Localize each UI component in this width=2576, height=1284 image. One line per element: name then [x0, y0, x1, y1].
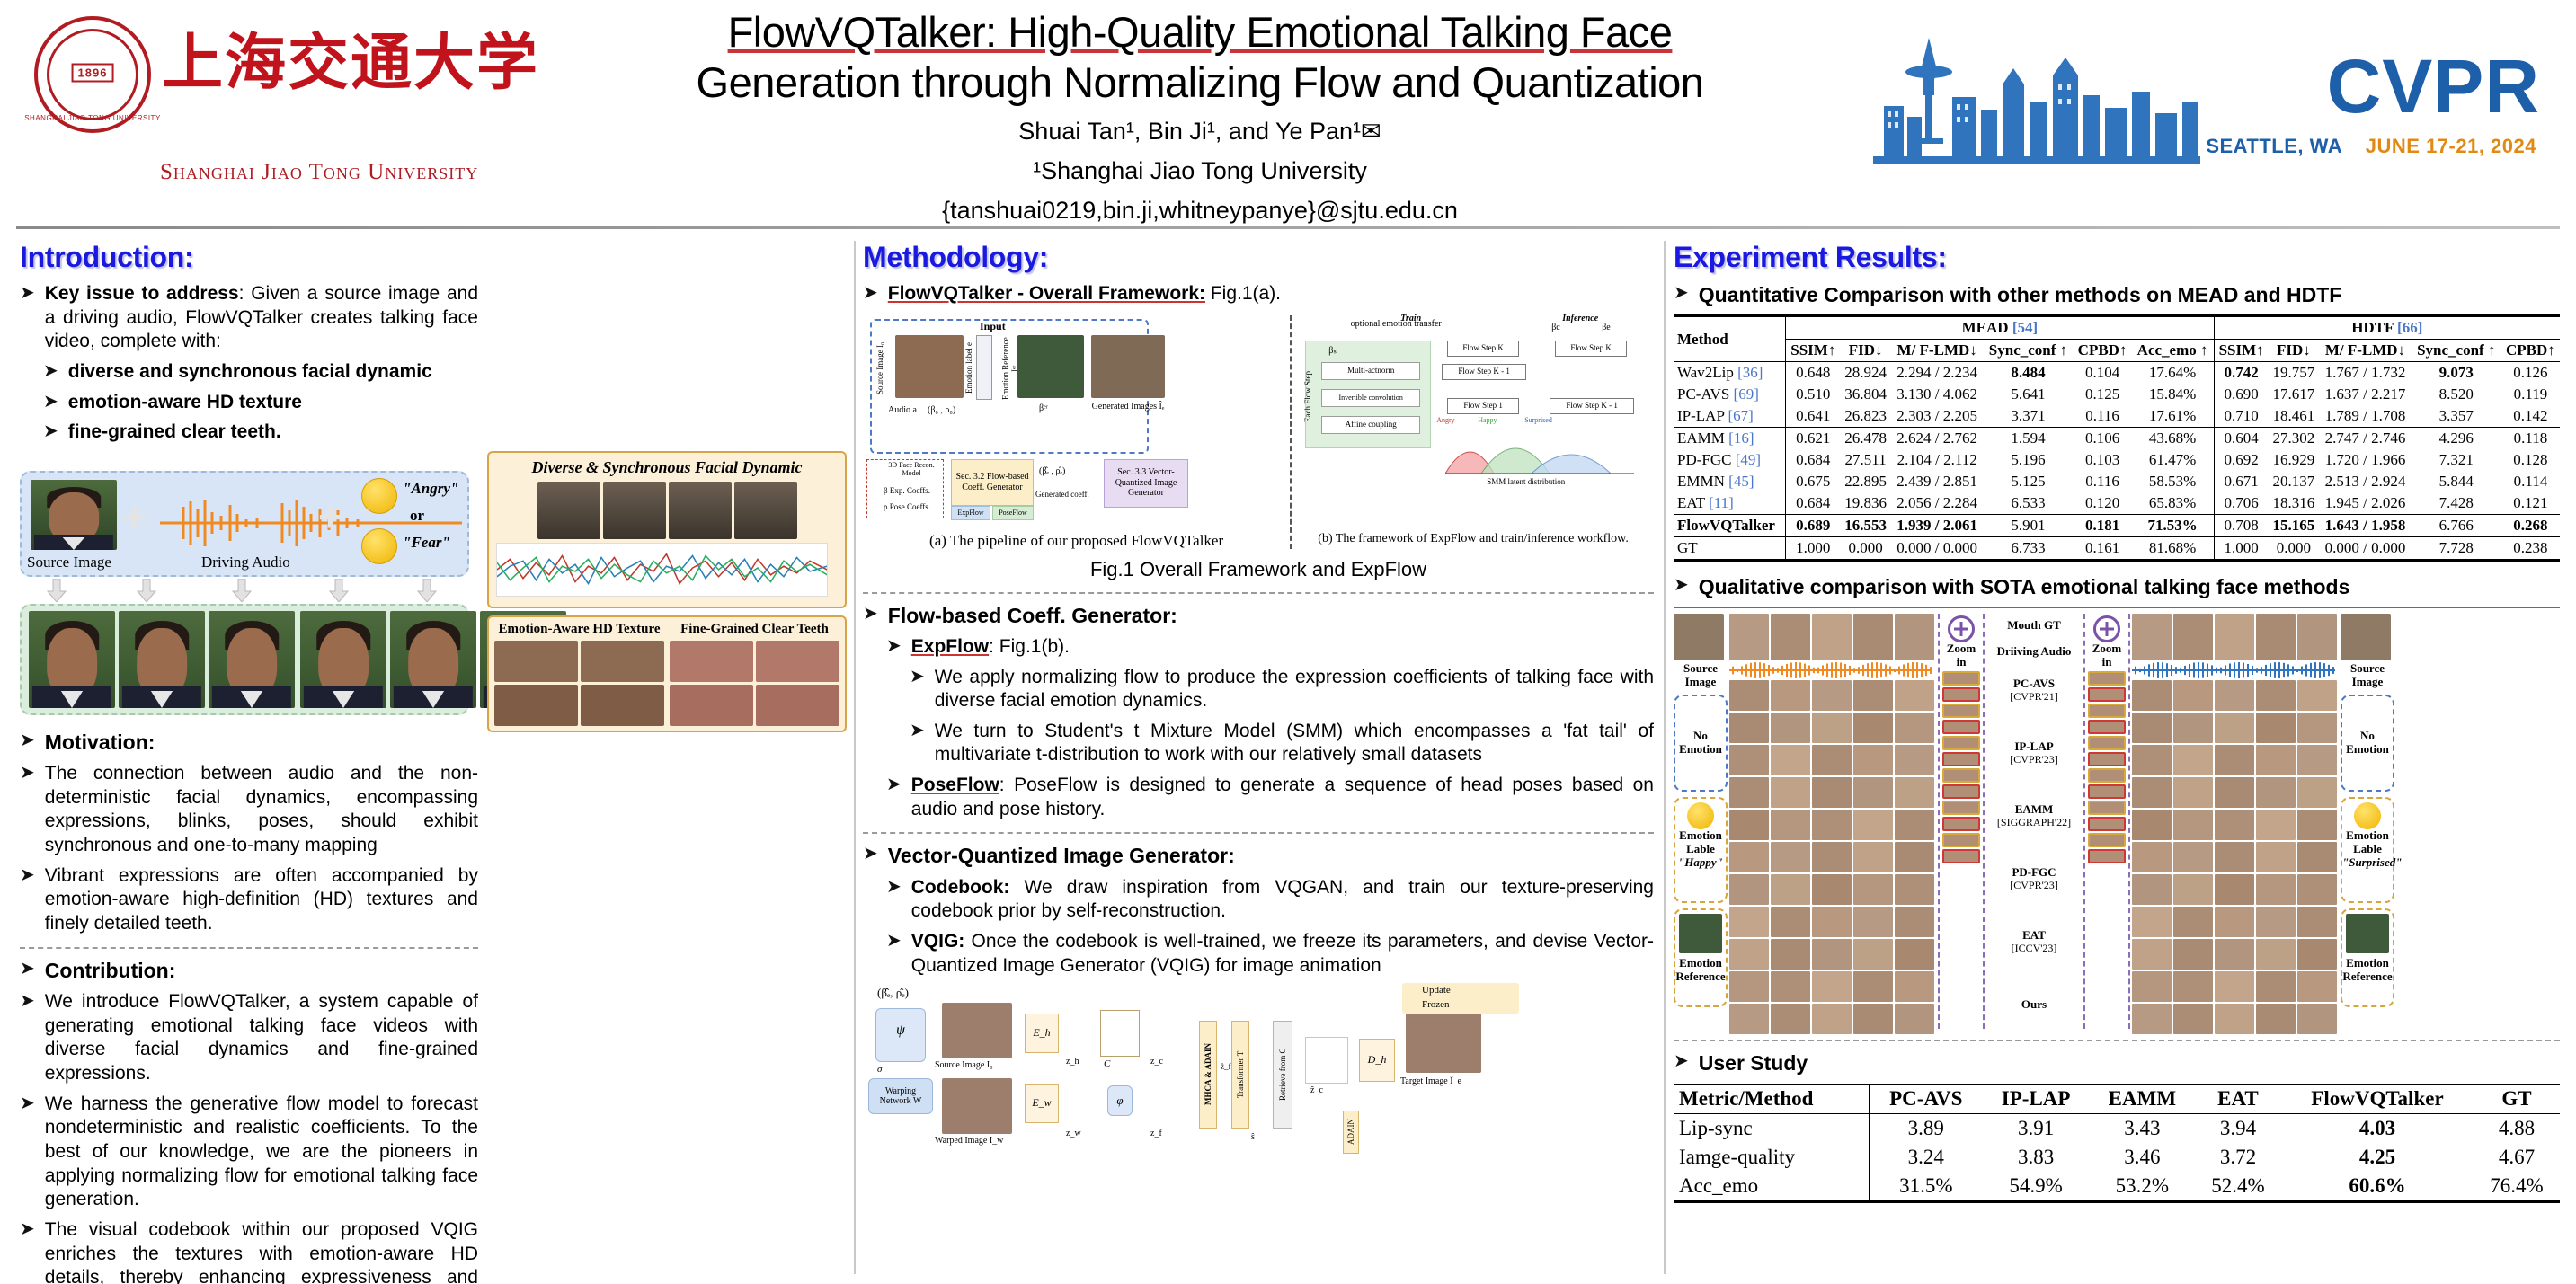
qual-image-cell [2132, 1004, 2172, 1034]
table-cell-value: 9.073 [2412, 362, 2501, 385]
sjtu-logo: 1896 SHANGHAI JIAO TONG UNIVERSITY 上海交通大… [27, 7, 351, 214]
th-fid-mead: FID↓ [1840, 340, 1891, 362]
user-study-header-row: Metric/MethodPC-AVSIP-LAPEAMMEATFlowVQTa… [1674, 1084, 2560, 1113]
qual-method-name: PC-AVS [1986, 677, 2082, 691]
coefficient-plot [496, 543, 828, 597]
legend-beta: β Exp. Coeffs. [872, 486, 942, 495]
qual-no-emotion-box-left: No Emotion [1674, 695, 1728, 792]
table-cell-value: 0.104 [2074, 362, 2132, 385]
user-study-metric: Iamge-quality [1674, 1143, 1870, 1172]
table-cell-value: 0.708 [2214, 515, 2269, 537]
qual-zoom-crop [1942, 720, 1980, 734]
table-cell-method: EAT [11] [1674, 492, 1786, 515]
user-study-header-cell: EAT [2195, 1084, 2281, 1113]
emotion-reference-fig [1017, 335, 1084, 398]
qual-zoom-label-right: Zoom in [2088, 642, 2126, 669]
affine-coupling-box: Affine coupling [1321, 416, 1420, 434]
qual-image-cell [2173, 842, 2213, 872]
table-cell-value: 6.733 [1983, 537, 2073, 561]
figure-1: Input Source Image I₀ Audio a (β₀ , ρ₀) … [863, 315, 1654, 549]
qual-image-row [2132, 971, 2339, 1002]
emotion-reference-caption: Emotion Reference Iᵉʳ [1005, 337, 1016, 400]
mouth-crop [756, 685, 839, 726]
figure-1-caption: Fig.1 Overall Framework and ExpFlow [863, 558, 1654, 581]
zw-label: z_w [1066, 1129, 1081, 1139]
qual-image-cell [1853, 745, 1893, 775]
qual-image-row [1729, 680, 1936, 711]
qual-method-venue: [SIGGRAPH'22] [1986, 817, 2082, 829]
th-sync-hdtf: Sync_conf ↑ [2412, 340, 2501, 362]
qual-image-cell [2132, 777, 2172, 808]
vqig-legend [1402, 983, 1519, 1014]
table-cell-value: 2.294 / 2.234 [1891, 362, 1984, 385]
qual-image-cell [1812, 1004, 1852, 1034]
emotion-or-label: or [410, 507, 424, 525]
user-study-header-cell: GT [2474, 1084, 2560, 1113]
qual-image-row [2132, 842, 2339, 872]
diverse-dynamic-title: Diverse & Synchronous Facial Dynamic [496, 458, 838, 478]
codebook-text: We draw inspiration from VQGAN, and trai… [911, 877, 1654, 922]
table-row: EMMN [45]0.67522.8952.439 / 2.8515.1250.… [1674, 471, 2560, 492]
seattle-skyline-icon [1866, 20, 2207, 186]
th-sync-mead: Sync_conf ↑ [1983, 340, 2073, 362]
arrow-bullet-icon: ➤ [863, 843, 878, 865]
th-group-mead: MEAD [54] [1786, 316, 2214, 340]
qual-image-row [2132, 745, 2339, 775]
inf-flow-step-k-box: Flow Step K [1555, 341, 1627, 357]
emotion-label-vector [976, 335, 992, 400]
inference-label: Inference [1562, 314, 1598, 324]
qual-emotion-l1-right: Emotion [2342, 829, 2393, 843]
qual-image-cell [2297, 614, 2337, 660]
table-cell-value: 81.68% [2132, 537, 2214, 561]
mouth-crop [756, 641, 839, 682]
qual-image-cell [1771, 939, 1810, 970]
table-cell-value: 0.119 [2501, 384, 2560, 405]
smm-distribution-plot [1445, 421, 1634, 477]
table-cell-value: 8.520 [2412, 384, 2501, 405]
section-divider [863, 832, 1654, 834]
motivation-heading: ➤ Motivation: [20, 730, 478, 756]
table-cell-value: 26.823 [1840, 405, 1891, 428]
flow-generator-heading: ➤ Flow-based Coeff. Generator: [863, 603, 1654, 629]
source-image-thumb [31, 480, 117, 550]
qual-image-cell [2215, 614, 2254, 660]
contribution-heading: ➤ Contribution: [20, 958, 478, 984]
qual-image-cell [1895, 713, 1934, 743]
table-cell-value: 2.303 / 2.205 [1891, 405, 1984, 428]
quantitative-heading: ➤ Quantitative Comparison with other met… [1674, 282, 2560, 308]
qual-zoom-crops-left [1942, 671, 1980, 863]
retrieve-block: Retrieve from C [1273, 1021, 1292, 1129]
codebook-label: Codebook: [911, 877, 1010, 898]
qual-image-cell [2132, 907, 2172, 937]
qual-image-cell [2132, 680, 2172, 711]
table-cell-value: 36.804 [1840, 384, 1891, 405]
qual-image-cell [1853, 1004, 1893, 1034]
table-cell-value: 0.125 [2074, 384, 2132, 405]
user-study-value: 3.46 [2090, 1143, 2195, 1172]
framework-label: FlowVQTalker - Overall Framework: [888, 283, 1205, 304]
expflow-ref: : Fig.1(b). [989, 636, 1070, 657]
qual-image-cell [2256, 745, 2296, 775]
qual-image-cell [2297, 777, 2337, 808]
qual-emotion-ref-label-right: Emotion Reference [2342, 957, 2393, 984]
user-study-value: 4.88 [2474, 1113, 2560, 1143]
sub-bullet-label: emotion-aware HD texture [68, 391, 478, 415]
user-study-value: 52.4% [2195, 1172, 2281, 1202]
table-row: IP-LAP [67]0.64126.8232.303 / 2.2053.371… [1674, 405, 2560, 428]
transformer-block: Transformer T [1231, 1021, 1249, 1129]
table-row: EAT [11]0.68419.8362.056 / 2.2846.5330.1… [1674, 492, 2560, 515]
poseflow-box: PoseFlow [992, 506, 1034, 520]
arrow-bullet-icon: ➤ [43, 391, 58, 413]
eye-crop [581, 685, 664, 726]
cvpr-wordmark: CVPR [2327, 43, 2540, 130]
bullet-sub-2: ➤ fine-grained clear teeth. [43, 421, 478, 445]
user-study-header-cell: FlowVQTalker [2281, 1084, 2474, 1113]
qual-image-cell [2173, 713, 2213, 743]
qual-image-row [2132, 662, 2339, 678]
qual-emotion-l1-left: Emotion [1675, 829, 1726, 843]
cvpr-city: SEATTLE, WA [2206, 135, 2341, 157]
source-image-fig [895, 335, 964, 398]
table-cell-value: 0.690 [2214, 384, 2269, 405]
qual-method-label: Ours [1986, 973, 2082, 1036]
cvpr-subtitle: SEATTLE, WA JUNE 17-21, 2024 [2206, 135, 2536, 158]
qual-image-cell [1812, 874, 1852, 905]
source-image-caption: Source Image [27, 553, 111, 571]
motivation-title: Motivation: [45, 730, 478, 756]
qual-image-row [2132, 614, 2339, 660]
table-cell-value: 19.757 [2269, 362, 2320, 385]
motivation-text: Vibrant expressions are often accompanie… [45, 864, 478, 936]
table-cell-value: 18.316 [2269, 492, 2320, 515]
contribution-bullet-1: ➤ We harness the generative flow model t… [20, 1093, 478, 1212]
qual-image-cell [2173, 614, 2213, 660]
sjtu-seal-icon: 1896 SHANGHAI JIAO TONG UNIVERSITY [34, 16, 151, 133]
qual-image-cell [2173, 874, 2213, 905]
framework-ref: Fig.1(a). [1205, 283, 1281, 304]
table-cell-value: 0.710 [2214, 405, 2269, 428]
optional-transfer-label: optional emotion transfer [1337, 319, 1454, 330]
contribution-text: We harness the generative flow model to … [45, 1093, 478, 1212]
Eh-encoder: E_h [1025, 1014, 1059, 1053]
table-cell-value: 0.128 [2501, 449, 2560, 471]
qual-image-row [1729, 713, 1936, 743]
vqig-warped-image [942, 1078, 1012, 1134]
table-cell-value: 0.510 [1786, 384, 1841, 405]
author-list: Shuai Tan¹, Bin Ji¹, and Ye Pan¹✉ [593, 116, 1807, 148]
table-cell-value: 1.720 / 1.966 [2319, 449, 2412, 471]
th-lmd-mead: M/ F-LMD↓ [1891, 340, 1984, 362]
Dh-decoder: D_h [1359, 1039, 1395, 1082]
qual-zoom-crop [1942, 801, 1980, 815]
figure-1a: Input Source Image I₀ Audio a (β₀ , ρ₀) … [863, 315, 1290, 549]
qual-source-thumb-left [1674, 614, 1724, 660]
table-cell-value: 0.692 [2214, 449, 2269, 471]
bullet-sub-1: ➤ emotion-aware HD texture [43, 391, 478, 415]
figure-1a-caption: (a) The pipeline of our proposed FlowVQT… [863, 532, 1290, 550]
qual-zoom-crop [2088, 687, 2126, 702]
qual-image-cell [1812, 614, 1852, 660]
contribution-title: Contribution: [45, 958, 478, 984]
table-cell-value: 0.000 [2269, 537, 2320, 561]
qual-image-cell [2132, 874, 2172, 905]
qual-image-cell [1853, 614, 1893, 660]
generated-frame [29, 611, 115, 708]
teaser-results-panel: Diverse & Synchronous Facial Dynamic [487, 451, 847, 732]
eye-crop [494, 641, 578, 682]
qual-zoom-crop [1942, 768, 1980, 783]
table-cell-value: 0.706 [2214, 492, 2269, 515]
qual-method-label: EAMM[SIGGRAPH'22] [1986, 784, 2082, 847]
qual-left-labels: Source Image No Emotion Emotion Lable "H… [1674, 614, 1728, 1029]
qual-image-cell [2297, 842, 2337, 872]
affiliation: ¹Shanghai Jiao Tong University [593, 155, 1807, 188]
qual-image-cell [2173, 907, 2213, 937]
table-cell-value: 0.118 [2501, 428, 2560, 450]
table-cell-value: 0.621 [1786, 428, 1841, 450]
qual-image-row [1729, 1004, 1936, 1034]
user-study-value: 4.25 [2281, 1143, 2474, 1172]
qual-image-cell [1853, 842, 1893, 872]
qual-image-cell [2256, 939, 2296, 970]
qual-zoom-crop [2088, 801, 2126, 815]
qual-image-cell [1853, 680, 1893, 711]
qual-emotion-l2-right: Lable [2342, 843, 2393, 856]
qual-emotion-ref-box-left: Emotion Reference [1674, 908, 1728, 1007]
vqig-warped-caption: Warped Image I_w [935, 1136, 1003, 1147]
coeffs0-caption: (β₀ , ρ₀) [928, 405, 955, 416]
qual-zoom-crop [1942, 784, 1980, 799]
audio-caption: Audio a [888, 405, 917, 416]
expflow-detail-0: ➤ We apply normalizing flow to produce t… [910, 666, 1654, 713]
motivation-text: The connection between audio and the non… [45, 762, 478, 858]
qual-zoom-crop [1942, 833, 1980, 847]
seal-arc-text: SHANGHAI JIAO TONG UNIVERSITY [24, 114, 161, 122]
qual-image-cell [1771, 810, 1810, 840]
table-cell-value: 7.321 [2412, 449, 2501, 471]
zoom-in-icon [2093, 615, 2120, 642]
qual-image-row [2132, 680, 2339, 711]
quantitative-table-body: Wav2Lip [36]0.64828.9242.294 / 2.2348.48… [1674, 362, 2560, 561]
qual-method-name: IP-LAP [1986, 740, 2082, 754]
table-cell-value: 5.641 [1983, 384, 2073, 405]
table-cell-value: 1.594 [1983, 428, 2073, 450]
seal-year: 1896 [72, 63, 114, 82]
figure-1b-caption: (b) The framework of ExpFlow and train/i… [1292, 532, 1654, 546]
user-study-value: 54.9% [1983, 1172, 2090, 1202]
table-cell-value: 17.617 [2269, 384, 2320, 405]
qual-method-name: PD-FGC [1986, 866, 2082, 880]
face-thumb [734, 482, 797, 539]
poster-title: FlowVQTalker: High-Quality Emotional Tal… [593, 7, 1807, 109]
qual-emotion-l2-left: Lable [1675, 843, 1726, 856]
qual-image-row [1729, 777, 1936, 808]
qual-zoom-crop [1942, 736, 1980, 750]
qual-image-cell [1812, 939, 1852, 970]
qual-image-cell [1895, 680, 1934, 711]
qual-image-cell [1729, 1004, 1769, 1034]
motivation-bullet-1: ➤ Vibrant expressions are often accompan… [20, 864, 478, 936]
table-cell-value: 0.648 [1786, 362, 1841, 385]
contribution-text: We introduce FlowVQTalker, a system capa… [45, 990, 478, 1086]
plus-icon: + [122, 496, 147, 537]
qual-zoom-crops-right [2088, 671, 2126, 863]
table-cell-value: 58.53% [2132, 471, 2214, 492]
qual-image-cell [1812, 810, 1852, 840]
legend-frozen-label: Frozen [1422, 999, 1450, 1011]
university-name-cn: 上海交通大学 [162, 13, 539, 102]
face-thumb [603, 482, 666, 539]
table-row: Acc_emo31.5%54.9%53.2%52.4%60.6%76.4% [1674, 1172, 2560, 1202]
qual-image-cell [2256, 680, 2296, 711]
arrow-bullet-icon: ➤ [20, 958, 35, 980]
user-study-header-cell: IP-LAP [1983, 1084, 2090, 1113]
qual-image-cell [2215, 842, 2254, 872]
plus-icon: + [318, 496, 342, 537]
zf-hat-label: ẑ_f [1221, 1062, 1231, 1071]
table-cell-value: 0.689 [1786, 515, 1841, 537]
qual-image-cell [2173, 777, 2213, 808]
table-cell-value: 0.684 [1786, 492, 1841, 515]
down-arrow-icon [137, 579, 156, 602]
contribution-bullet-0: ➤ We introduce FlowVQTalker, a system ca… [20, 990, 478, 1086]
qual-image-cell [1895, 939, 1934, 970]
table-cell-value: 2.439 / 2.851 [1891, 471, 1984, 492]
user-study-value: 3.43 [2090, 1113, 2195, 1143]
table-cell-method: GT [1674, 537, 1786, 561]
qual-emotion-value-right: "Surprised" [2342, 856, 2393, 870]
qual-image-cell [1895, 614, 1934, 660]
qual-image-cell [2215, 745, 2254, 775]
table-cell-value: 2.747 / 2.746 [2319, 428, 2412, 450]
table-cell-value: 43.68% [2132, 428, 2214, 450]
th-ssim-mead: SSIM↑ [1786, 340, 1841, 362]
title-line-2: Generation through Normalizing Flow and … [593, 58, 1807, 108]
poseflow-bullet: ➤ PoseFlow: PoseFlow is designed to gene… [886, 774, 1654, 821]
vqig-source-caption: Source Image I₀ [935, 1060, 993, 1071]
qual-image-cell [1895, 810, 1934, 840]
user-study-value: 3.72 [2195, 1143, 2281, 1172]
qual-driving-audio-label: Driiving Audio [1986, 645, 2082, 659]
table-row: Lip-sync3.893.913.433.944.034.88 [1674, 1113, 2560, 1143]
arrow-bullet-icon: ➤ [863, 603, 878, 625]
generated-coeff-symbol: (β̂ₑ , ρ̂ₑ) [1039, 466, 1065, 477]
qual-grid-right [2132, 614, 2339, 1029]
qual-zoom-crop [2088, 704, 2126, 718]
qual-image-cell [1729, 971, 1769, 1002]
qual-image-cell [1895, 745, 1934, 775]
table-cell-value: 7.728 [2412, 537, 2501, 561]
qual-image-row [1729, 745, 1936, 775]
legend-rho: ρ Pose Coeffs. [872, 502, 942, 511]
qual-method-venue: [ICCV'23] [1986, 943, 2082, 955]
qual-image-cell [2256, 810, 2296, 840]
qual-image-cell [1771, 971, 1810, 1002]
table-cell-value: 6.533 [1983, 492, 2073, 515]
cvpr-logo: CVPR SEATTLE, WA JUNE 17-21, 2024 [1866, 16, 2549, 209]
expflow-box: ExpFlow [951, 506, 990, 520]
fear-emoji-icon [361, 528, 397, 564]
table-cell-value: 28.924 [1840, 362, 1891, 385]
qual-source-label-left: Source Image [1674, 662, 1728, 689]
qual-method-label: IP-LAP[CVPR'23] [1986, 722, 2082, 784]
arrow-bullet-icon: ➤ [886, 774, 902, 796]
expflow-detail-text: We apply normalizing flow to produce the… [935, 666, 1654, 713]
expflow-bullet: ➤ ExpFlow: Fig.1(b). [886, 635, 1654, 660]
qual-image-cell [1729, 614, 1769, 660]
arrow-bullet-icon: ➤ [863, 282, 878, 305]
section-divider [1674, 1040, 2560, 1041]
qual-image-cell [1729, 745, 1769, 775]
mouth-crop [670, 685, 753, 726]
qual-image-cell [1729, 907, 1769, 937]
table-cell-value: 1.000 [2214, 537, 2269, 561]
vqig-label: VQIG: [911, 931, 965, 952]
qual-image-cell [1729, 777, 1769, 808]
poster-root: 1896 SHANGHAI JIAO TONG UNIVERSITY 上海交通大… [0, 0, 2576, 1284]
table-cell-value: 17.64% [2132, 362, 2214, 385]
sigma-symbol: σ [877, 1064, 882, 1076]
emotion-fear-label: "Fear" [403, 534, 450, 552]
table-cell-method: EMMN [45] [1674, 471, 1786, 492]
qual-image-cell [2215, 971, 2254, 1002]
table-cell-value: 65.83% [2132, 492, 2214, 515]
qual-image-cell [2132, 939, 2172, 970]
table-cell-value: 8.484 [1983, 362, 2073, 385]
phi-block: φ [1107, 1085, 1133, 1116]
qual-zoom-crop [2088, 752, 2126, 766]
table-cell-value: 0.126 [2501, 362, 2560, 385]
vqig-text: Once the codebook is well-trained, we fr… [911, 931, 1654, 976]
qual-zoom-crop [2088, 849, 2126, 863]
user-study-value: 60.6% [2281, 1172, 2474, 1202]
qual-no-emotion-box-right: No Emotion [2341, 695, 2394, 792]
arrow-bullet-icon: ➤ [20, 1093, 35, 1115]
table-cell-value: 0.114 [2501, 471, 2560, 492]
table-cell-value: 20.137 [2269, 471, 2320, 492]
user-study-value: 53.2% [2090, 1172, 2195, 1202]
qual-image-cell [2215, 680, 2254, 711]
qual-method-venue: [CVPR'23] [1986, 754, 2082, 766]
qual-zoom-crop [2088, 833, 2126, 847]
flow-generator-title: Flow-based Coeff. Generator: [888, 603, 1654, 629]
codebook-symbol: C [1104, 1058, 1110, 1070]
arrow-bullet-icon: ➤ [20, 282, 35, 305]
experiments-title: Experiment Results: [1674, 241, 2560, 274]
qual-no-emotion-label-left: No Emotion [1675, 730, 1726, 757]
qual-image-row [1729, 842, 1936, 872]
qualitative-figure: Source Image No Emotion Emotion Lable "H… [1674, 607, 2560, 1029]
qual-image-cell [2297, 680, 2337, 711]
vqig-target-caption: Target Image Î_e [1400, 1076, 1461, 1087]
flow-step-1-box: Flow Step 1 [1447, 398, 1519, 414]
clear-teeth-half: Fine-Grained Clear Teeth [670, 622, 839, 726]
qual-image-row [2132, 810, 2339, 840]
table-cell-value: 2.513 / 2.924 [2319, 471, 2412, 492]
beta-c-label: βc [1551, 323, 1560, 333]
eye-crop [494, 685, 578, 726]
qual-zoom-crop [1942, 687, 1980, 702]
table-cell-value: 0.268 [2501, 515, 2560, 537]
table-cell-value: 0.121 [2501, 492, 2560, 515]
flow-step-k1-box: Flow Step K - 1 [1442, 364, 1526, 380]
table-cell-value: 0.142 [2501, 405, 2560, 428]
eye-crop [581, 641, 664, 682]
table-cell-value: 16.553 [1840, 515, 1891, 537]
